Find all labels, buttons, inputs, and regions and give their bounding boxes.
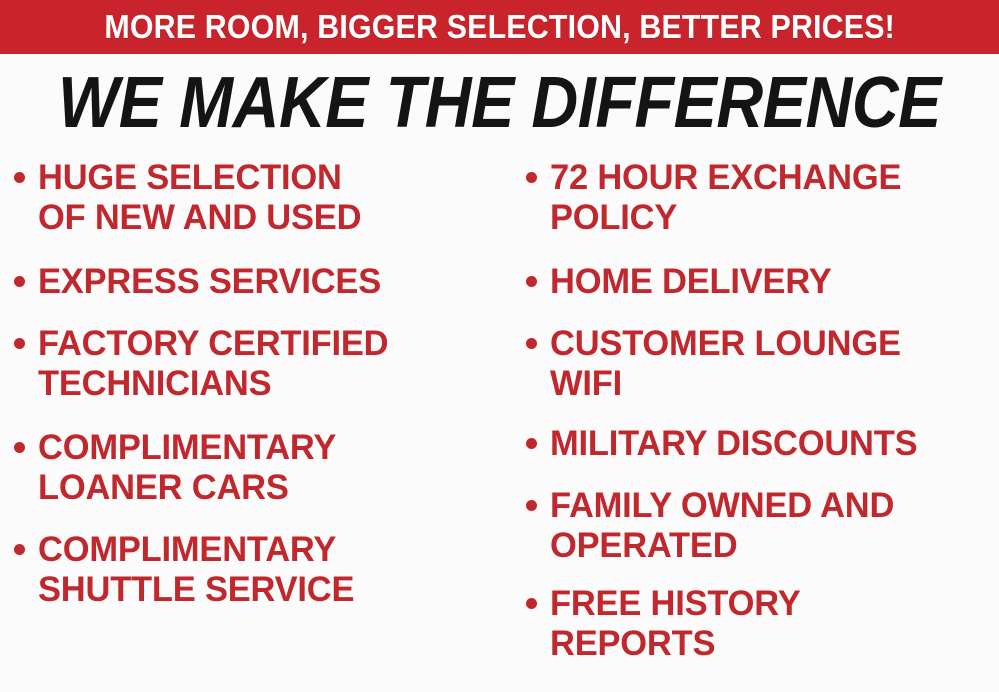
list-item-label: FREE HISTORY REPORTS [550, 584, 800, 664]
list-item-label: HOME DELIVERY [550, 262, 832, 302]
bullet-dot-icon [526, 598, 537, 609]
list-item: HUGE SELECTION OF NEW AND USED [14, 158, 510, 238]
banner-headline-text: MORE ROOM, BIGGER SELECTION, BETTER PRIC… [104, 10, 895, 44]
list-item-label: HUGE SELECTION OF NEW AND USED [38, 158, 361, 238]
bullet-dot-icon [14, 276, 25, 287]
features-column-left: HUGE SELECTION OF NEW AND USED EXPRESS S… [0, 158, 510, 692]
list-item: FREE HISTORY REPORTS [526, 584, 999, 664]
bullet-dot-icon [14, 544, 25, 555]
list-item-label: FAMILY OWNED AND OPERATED [550, 486, 894, 566]
list-item-label: CUSTOMER LOUNGE WIFI [550, 324, 901, 404]
list-item-label: COMPLIMENTARY LOANER CARS [38, 428, 336, 508]
list-item: 72 HOUR EXCHANGE POLICY [526, 158, 999, 238]
bullet-dot-icon [526, 338, 537, 349]
list-item: EXPRESS SERVICES [14, 262, 510, 302]
bullet-dot-icon [14, 442, 25, 453]
list-item: FACTORY CERTIFIED TECHNICIANS [14, 324, 510, 404]
list-item: CUSTOMER LOUNGE WIFI [526, 324, 999, 404]
list-item: HOME DELIVERY [526, 262, 999, 302]
main-headline: WE MAKE THE DIFFERENCE [58, 65, 941, 141]
features-columns: HUGE SELECTION OF NEW AND USED EXPRESS S… [0, 158, 999, 692]
list-item-label: 72 HOUR EXCHANGE POLICY [550, 158, 901, 238]
list-item: COMPLIMENTARY SHUTTLE SERVICE [14, 530, 510, 610]
list-item-label: COMPLIMENTARY SHUTTLE SERVICE [38, 530, 354, 610]
top-banner: MORE ROOM, BIGGER SELECTION, BETTER PRIC… [0, 0, 999, 54]
bullet-dot-icon [14, 338, 25, 349]
features-column-right: 72 HOUR EXCHANGE POLICY HOME DELIVERY CU… [510, 158, 999, 692]
headline-section: WE MAKE THE DIFFERENCE [0, 64, 999, 142]
promotional-poster: MORE ROOM, BIGGER SELECTION, BETTER PRIC… [0, 0, 999, 692]
list-item-label: MILITARY DISCOUNTS [550, 424, 917, 464]
list-item-label: EXPRESS SERVICES [38, 262, 381, 302]
list-item-label: FACTORY CERTIFIED TECHNICIANS [38, 324, 388, 404]
bullet-dot-icon [526, 500, 537, 511]
bullet-dot-icon [526, 438, 537, 449]
list-item: FAMILY OWNED AND OPERATED [526, 486, 999, 566]
bullet-dot-icon [526, 276, 537, 287]
bullet-dot-icon [526, 172, 537, 183]
list-item: MILITARY DISCOUNTS [526, 424, 999, 464]
list-item: COMPLIMENTARY LOANER CARS [14, 428, 510, 508]
bullet-dot-icon [14, 172, 25, 183]
